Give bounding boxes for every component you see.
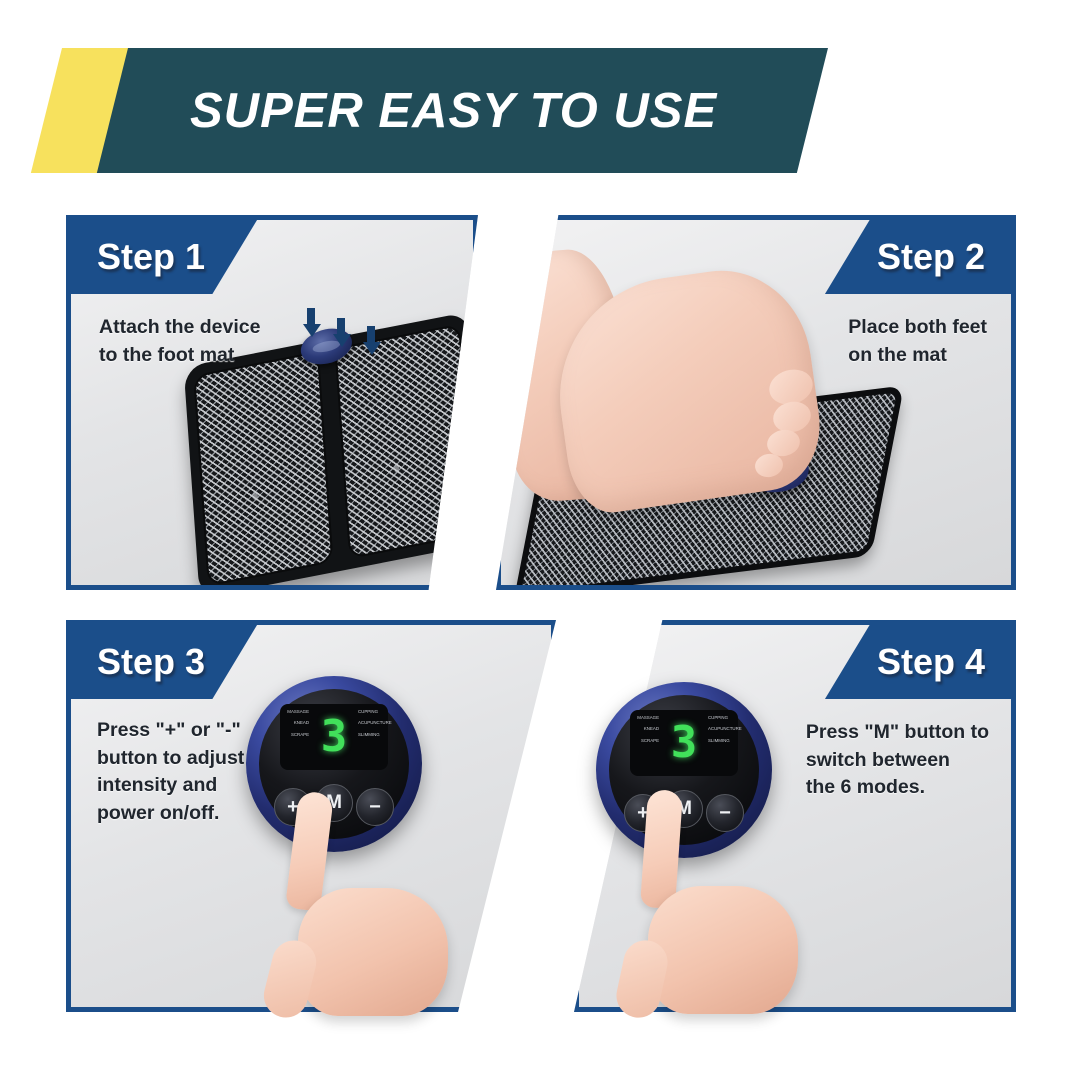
mode-label: MASSAGE bbox=[633, 716, 659, 720]
mode-label: ACUPUNCTURE bbox=[358, 721, 386, 725]
intensity-level-value: 3 bbox=[321, 715, 348, 759]
palm bbox=[648, 886, 798, 1014]
step-panel-1: Step 1 Attach the device to the foot mat bbox=[66, 215, 478, 590]
minus-button[interactable]: − bbox=[706, 794, 744, 832]
step-caption-3: Press "+" or "-" button to adjust intens… bbox=[97, 717, 244, 828]
infographic-canvas: SUPER EASY TO USE bbox=[0, 0, 1080, 1080]
step-caption-4: Press "M" button to switch between the 6… bbox=[806, 719, 989, 802]
step-badge-label: Step 2 bbox=[877, 236, 985, 278]
down-arrow-icon bbox=[363, 326, 378, 355]
step-caption-2: Place both feet on the mat bbox=[848, 314, 987, 369]
mode-label: SCRAPE bbox=[283, 733, 309, 737]
mode-label: ACUPUNCTURE bbox=[708, 727, 736, 731]
mode-label: SCRAPE bbox=[633, 739, 659, 743]
palm bbox=[298, 888, 448, 1016]
mode-label: SLIMMING bbox=[358, 733, 386, 737]
down-arrow-icon bbox=[303, 308, 318, 337]
ems-controller-step4: MASSAGE KNEAD SCRAPE 3 CUPPING ACUPUNCTU… bbox=[596, 682, 772, 858]
controller-display: MASSAGE KNEAD SCRAPE 3 CUPPING ACUPUNCTU… bbox=[630, 710, 738, 776]
mode-labels-left: MASSAGE KNEAD SCRAPE bbox=[633, 716, 659, 743]
mode-label: KNEAD bbox=[283, 721, 309, 725]
down-arrows-group bbox=[303, 308, 378, 355]
foot-mat-pad-right bbox=[335, 324, 475, 559]
mode-labels-right: CUPPING ACUPUNCTURE SLIMMING bbox=[358, 710, 386, 737]
mode-label: KNEAD bbox=[633, 727, 659, 731]
down-arrow-icon bbox=[333, 318, 348, 347]
ems-controller-step3: MASSAGE KNEAD SCRAPE 3 CUPPING ACUPUNCTU… bbox=[246, 676, 422, 852]
mode-label: SLIMMING bbox=[708, 739, 736, 743]
controller-display: MASSAGE KNEAD SCRAPE 3 CUPPING ACUPUNCTU… bbox=[280, 704, 388, 770]
foot-mat-pad-left bbox=[193, 351, 333, 586]
step-badge-label: Step 3 bbox=[97, 641, 205, 683]
step-caption-1: Attach the device to the foot mat bbox=[99, 314, 260, 369]
step-panel-2: Step 2 Place both feet on the mat bbox=[496, 215, 1016, 590]
steps-grid: Step 1 Attach the device to the foot mat… bbox=[0, 0, 1080, 1080]
mode-label: MASSAGE bbox=[283, 710, 309, 714]
mode-labels-left: MASSAGE KNEAD SCRAPE bbox=[283, 710, 309, 737]
step-badge-label: Step 1 bbox=[97, 236, 205, 278]
mode-labels-right: CUPPING ACUPUNCTURE SLIMMING bbox=[708, 716, 736, 743]
mode-label: CUPPING bbox=[358, 710, 386, 714]
step-badge-label: Step 4 bbox=[877, 641, 985, 683]
mode-label: CUPPING bbox=[708, 716, 736, 720]
intensity-level-value: 3 bbox=[671, 721, 698, 765]
minus-button[interactable]: − bbox=[356, 788, 394, 826]
